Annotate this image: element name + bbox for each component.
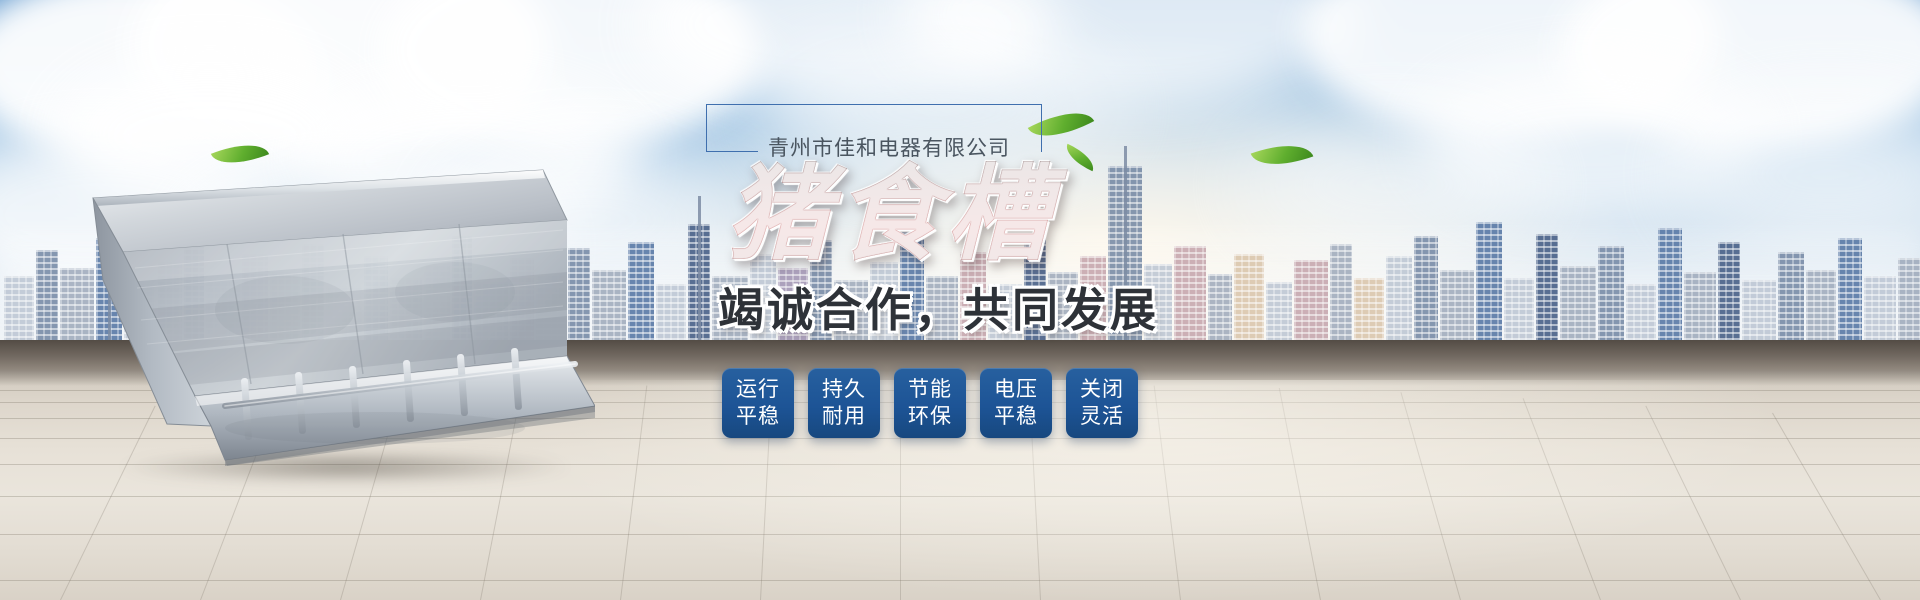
promo-banner: 青州市佳和电器有限公司 猪食槽 竭诚合作，共同发展 运行 平稳 持久 耐用 节能…	[0, 0, 1920, 600]
feature-badge-2-line2: 耐用	[822, 403, 866, 430]
frame-left-border	[706, 104, 707, 152]
feature-badge-4-line1: 电压	[994, 376, 1038, 403]
feature-badge-4[interactable]: 电压 平稳	[980, 368, 1052, 438]
feature-badge-1[interactable]: 运行 平稳	[722, 368, 794, 438]
frame-right-border	[1041, 104, 1042, 152]
frame-top-border	[706, 104, 1042, 105]
feature-badge-3-line1: 节能	[908, 376, 952, 403]
feature-badge-5-line1: 关闭	[1080, 376, 1124, 403]
feature-badge-2-line1: 持久	[822, 376, 866, 403]
feature-badge-3-line2: 环保	[908, 403, 952, 430]
feature-badge-5-line2: 灵活	[1080, 403, 1124, 430]
banner-text-block: 青州市佳和电器有限公司 猪食槽 竭诚合作，共同发展 运行 平稳 持久 耐用 节能…	[700, 96, 1260, 438]
product-image-pig-feeder-trough	[75, 160, 595, 470]
feature-badge-3[interactable]: 节能 环保	[894, 368, 966, 438]
feature-badge-list: 运行 平稳 持久 耐用 节能 环保 电压 平稳 关闭 灵活	[722, 368, 1260, 438]
company-name-frame: 青州市佳和电器有限公司	[706, 96, 1042, 152]
feature-badge-1-line1: 运行	[736, 376, 780, 403]
feature-badge-2[interactable]: 持久 耐用	[808, 368, 880, 438]
subtitle-slogan: 竭诚合作，共同发展	[718, 274, 1260, 340]
feature-badge-1-line2: 平稳	[736, 403, 780, 430]
feature-badge-4-line2: 平稳	[994, 403, 1038, 430]
feature-badge-5[interactable]: 关闭 灵活	[1066, 368, 1138, 438]
headline-title: 猪食槽	[726, 158, 1260, 270]
